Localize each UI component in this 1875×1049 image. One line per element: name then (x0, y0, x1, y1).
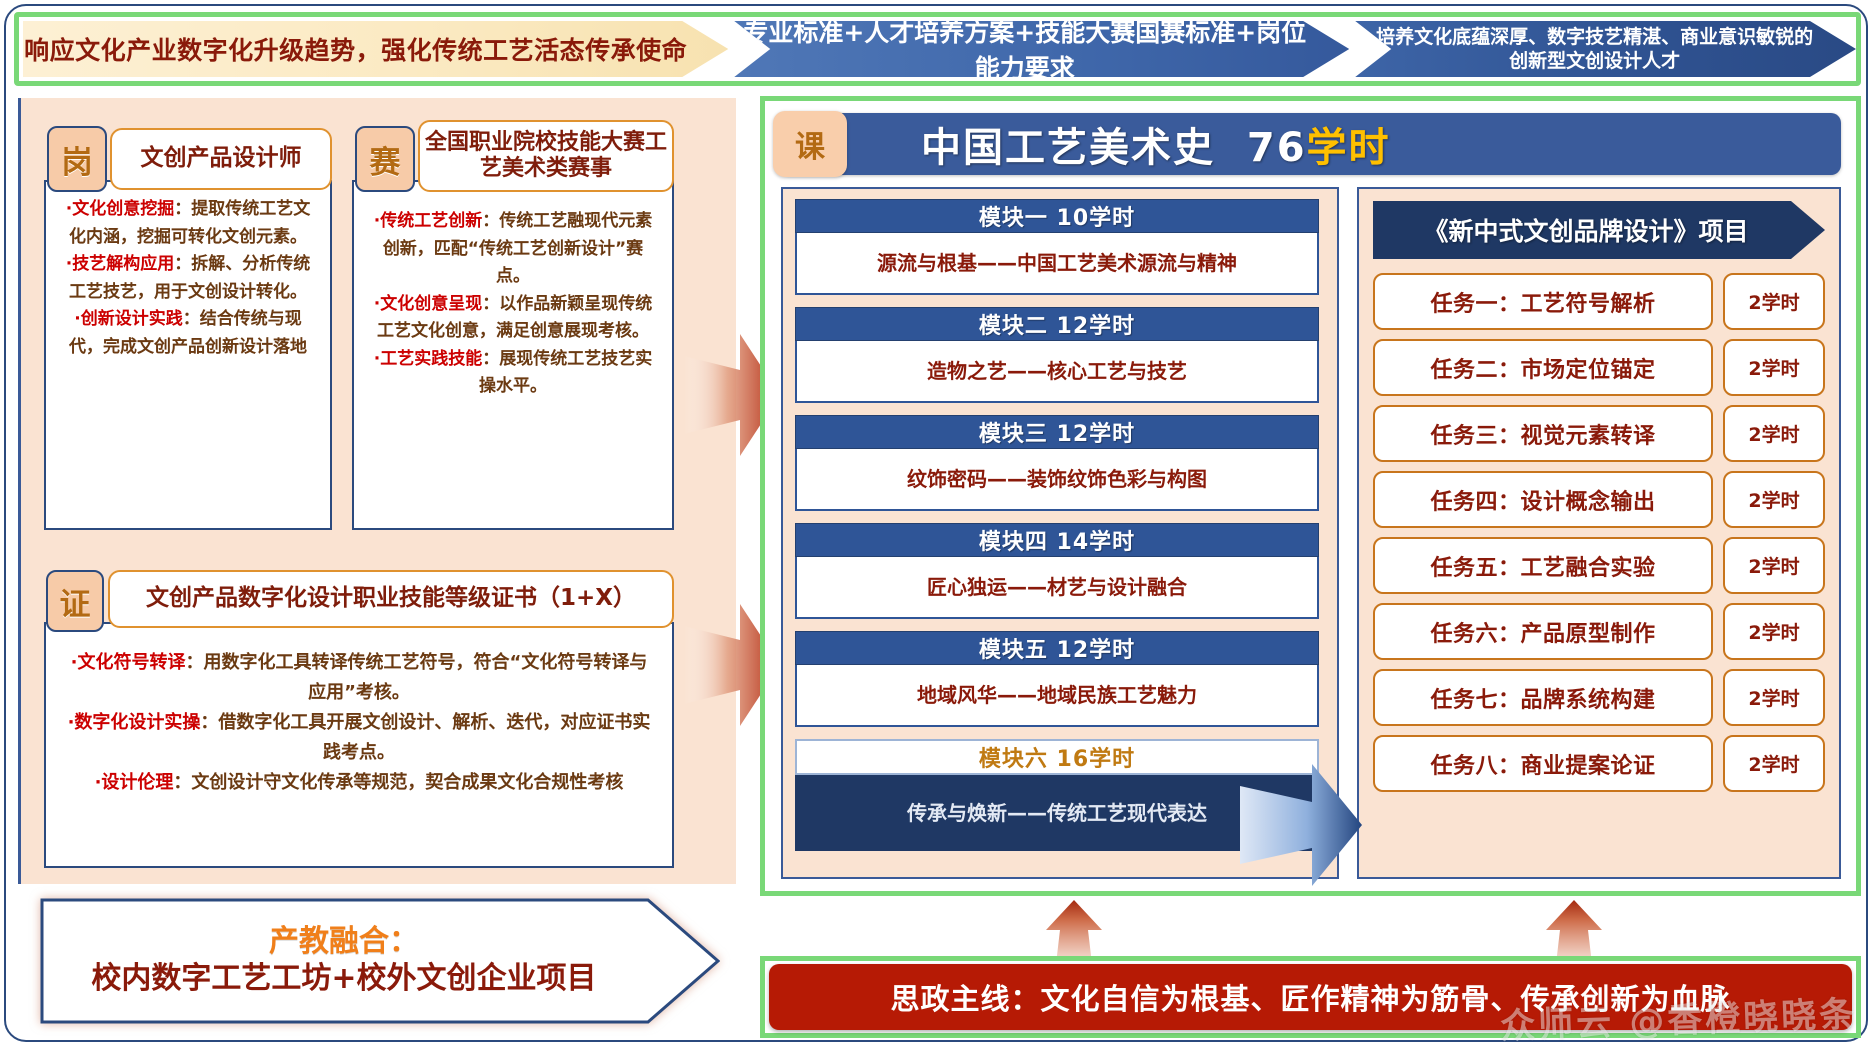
cert-bullet-1-text: ：借数字化工具开展文创设计、解析、迭代，对应证书实践考点。 (200, 712, 650, 763)
task-row[interactable]: 任务七：品牌系统构建 2学时 (1373, 669, 1825, 726)
task-1-hours: 2学时 (1723, 273, 1825, 330)
module-4[interactable]: 模块四 14学时 匠心独运——材艺与设计融合 (795, 523, 1319, 619)
contest-card-tag: 赛 (355, 126, 415, 192)
task-3-name: 任务三：视觉元素转译 (1373, 405, 1713, 462)
banner-step-1-label: 响应文化产业数字化升级趋势，强化传统工艺活态传承使命 (24, 31, 687, 67)
module-5-body: 地域风华——地域民族工艺魅力 (795, 665, 1319, 727)
certificate-card-tag-label: 证 (60, 579, 91, 624)
cert-bullet-1-keyword: ·数字化设计实操 (68, 712, 201, 733)
course-title: 中国工艺美术史 76学时 (921, 115, 1391, 173)
course-tag-label: 课 (795, 122, 825, 166)
module-5-header: 模块五 12学时 (795, 631, 1319, 665)
task-8-name: 任务八：商业提案论证 (1373, 735, 1713, 792)
post-card-title: 文创产品设计师 (141, 145, 302, 173)
contest-card-tag-label: 赛 (370, 137, 401, 182)
red-up-arrow-right-icon (1532, 900, 1616, 964)
industry-education-pentagon: 产教融合： 校内数字工艺工坊+校外文创企业项目 (40, 898, 720, 1024)
contest-card-title: 全国职业院校技能大赛工艺美术类赛事 (420, 130, 672, 183)
project-banner-label: 《新中式文创品牌设计》项目 (1423, 212, 1748, 248)
task-8-hours: 2学时 (1723, 735, 1825, 792)
task-7-name: 任务七：品牌系统构建 (1373, 669, 1713, 726)
contest-bullet-2-text: ：展现传统工艺技艺实操水平。 (479, 349, 652, 397)
task-row[interactable]: 任务二：市场定位锚定 2学时 (1373, 339, 1825, 396)
task-row[interactable]: 任务一：工艺符号解析 2学时 (1373, 273, 1825, 330)
post-card-bullets: ·文化创意挖掘：提取传统工艺文化内涵，挖掘可转化文创元素。 ·技艺解构应用：拆解… (52, 196, 324, 361)
module-3-body: 纹饰密码——装饰纹饰色彩与构图 (795, 449, 1319, 511)
post-card-tag: 岗 (47, 126, 107, 192)
task-6-hours: 2学时 (1723, 603, 1825, 660)
module-5[interactable]: 模块五 12学时 地域风华——地域民族工艺魅力 (795, 631, 1319, 727)
post-card-title-pill: 文创产品设计师 (110, 128, 332, 190)
module-3-header: 模块三 12学时 (795, 415, 1319, 449)
post-bullet-1-keyword: ·技艺解构应用 (66, 254, 174, 274)
certificate-card-tag: 证 (46, 570, 104, 632)
task-1-name: 任务一：工艺符号解析 (1373, 273, 1713, 330)
task-row[interactable]: 任务四：设计概念输出 2学时 (1373, 471, 1825, 528)
contest-card-title-pill: 全国职业院校技能大赛工艺美术类赛事 (418, 120, 674, 192)
module-2[interactable]: 模块二 12学时 造物之艺——核心工艺与技艺 (795, 307, 1319, 403)
task-3-hours: 2学时 (1723, 405, 1825, 462)
module-2-body: 造物之艺——核心工艺与技艺 (795, 341, 1319, 403)
course-hours-number: 76 (1247, 125, 1307, 171)
module-1-header: 模块一 10学时 (795, 199, 1319, 233)
task-row[interactable]: 任务三：视觉元素转译 2学时 (1373, 405, 1825, 462)
task-4-hours: 2学时 (1723, 471, 1825, 528)
banner-step-2-label: 专业标准+人才培养方案+技能大赛国赛标准+岗位能力要求 (740, 13, 1309, 85)
project-banner: 《新中式文创品牌设计》项目 (1373, 201, 1825, 259)
cert-bullet-0-text: ：用数字化工具转译传统工艺符号，符合“文化符号转译与应用”考核。 (186, 652, 648, 703)
task-7-hours: 2学时 (1723, 669, 1825, 726)
certificate-card-title: 文创产品数字化设计职业技能等级证书（1+X） (146, 585, 636, 613)
module-1[interactable]: 模块一 10学时 源流与根基——中国工艺美术源流与精神 (795, 199, 1319, 295)
course-hours-unit: 学时 (1307, 125, 1391, 171)
top-process-banner: 响应文化产业数字化升级趋势，强化传统工艺活态传承使命 专业标准+人才培养方案+技… (14, 12, 1861, 86)
task-row[interactable]: 任务五：工艺融合实验 2学时 (1373, 537, 1825, 594)
module-1-body: 源流与根基——中国工艺美术源流与精神 (795, 233, 1319, 295)
course-header: 课 中国工艺美术史 76学时 (781, 113, 1841, 175)
cert-bullet-0-keyword: ·文化符号转译 (71, 652, 186, 673)
project-tasks-column: 《新中式文创品牌设计》项目 任务一：工艺符号解析 2学时 任务二：市场定位锚定 … (1357, 187, 1841, 879)
module-2-header: 模块二 12学时 (795, 307, 1319, 341)
contest-bullet-1-keyword: ·文化创意呈现 (374, 294, 482, 314)
task-6-name: 任务六：产品原型制作 (1373, 603, 1713, 660)
industry-education-line1: 产教融合： (269, 925, 419, 960)
contest-bullet-2-keyword: ·工艺实践技能 (374, 349, 482, 369)
task-2-hours: 2学时 (1723, 339, 1825, 396)
task-4-name: 任务四：设计概念输出 (1373, 471, 1713, 528)
blue-arrow-icon (1240, 760, 1362, 890)
course-tag: 课 (773, 111, 847, 177)
banner-step-2: 专业标准+人才培养方案+技能大赛国赛标准+岗位能力要求 (698, 21, 1349, 77)
course-title-main: 中国工艺美术史 (921, 125, 1215, 171)
red-up-arrow-left-icon (1032, 900, 1116, 964)
task-5-name: 任务五：工艺融合实验 (1373, 537, 1713, 594)
post-bullet-0-keyword: ·文化创意挖掘 (66, 199, 174, 219)
contest-bullet-0-keyword: ·传统工艺创新 (374, 211, 482, 231)
contest-card-bullets: ·传统工艺创新：传统工艺融现代元素创新，匹配“传统工艺创新设计”赛点。 ·文化创… (360, 208, 666, 401)
banner-step-3-label: 培养文化底蕴深厚、数字技艺精湛、商业意识敏锐的创新型文创设计人才 (1367, 25, 1822, 74)
module-4-body: 匠心独运——材艺与设计融合 (795, 557, 1319, 619)
post-bullet-2-keyword: ·创新设计实践 (74, 309, 182, 329)
certificate-card-title-pill: 文创产品数字化设计职业技能等级证书（1+X） (108, 570, 674, 628)
task-row[interactable]: 任务六：产品原型制作 2学时 (1373, 603, 1825, 660)
banner-step-1: 响应文化产业数字化升级趋势，强化传统工艺活态传承使命 (23, 21, 728, 77)
module-3[interactable]: 模块三 12学时 纹饰密码——装饰纹饰色彩与构图 (795, 415, 1319, 511)
certificate-card-bullets: ·文化符号转译：用数字化工具转译传统工艺符号，符合“文化符号转译与应用”考核。 … (54, 648, 664, 797)
task-row[interactable]: 任务八：商业提案论证 2学时 (1373, 735, 1825, 792)
industry-education-line2: 校内数字工艺工坊+校外文创企业项目 (91, 960, 596, 998)
banner-step-3: 培养文化底蕴深厚、数字技艺精湛、商业意识敏锐的创新型文创设计人才 (1319, 21, 1856, 77)
cert-bullet-2-keyword: ·设计伦理 (95, 772, 174, 793)
task-5-hours: 2学时 (1723, 537, 1825, 594)
post-card-tag-label: 岗 (62, 137, 93, 182)
task-2-name: 任务二：市场定位锚定 (1373, 339, 1713, 396)
module-4-header: 模块四 14学时 (795, 523, 1319, 557)
cert-bullet-2-text: ：文创设计守文化传承等规范，契合成果文化合规性考核 (173, 772, 623, 793)
